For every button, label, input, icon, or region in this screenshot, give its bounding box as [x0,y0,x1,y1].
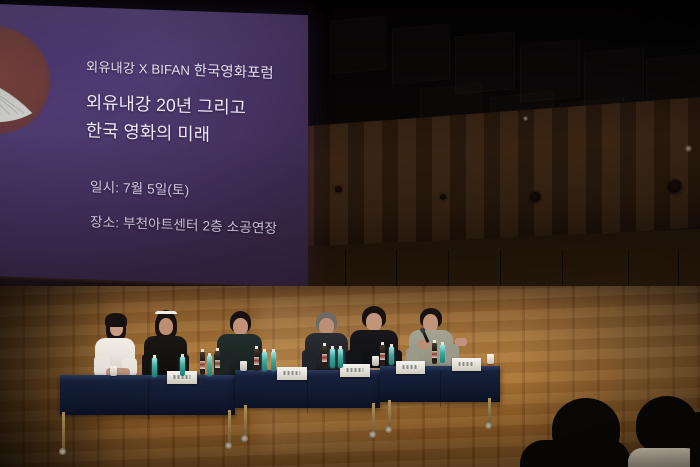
wall-light-glow [523,116,528,121]
table-leg [244,405,247,437]
screen-text-block: 외유내강 X BIFAN 한국영화포럼 외유내강 20년 그리고 한국 영화의 … [0,4,308,287]
water-bottle [389,347,394,365]
table-caster [485,422,492,429]
moth-wing-graphic [0,54,70,150]
acoustic-panel [330,16,386,75]
paper-cup [372,356,379,366]
water-bottle [207,356,212,376]
screen-venue: 장소: 부천아트센터 2층 소공연장 [90,210,277,237]
water-bottle [180,357,185,376]
water-bottle [330,349,335,368]
projection-screen: 외유내강 X BIFAN 한국영화포럼 외유내강 20년 그리고 한국 영화의 … [0,4,308,287]
name-card [340,364,370,377]
table-leg [228,410,231,444]
name-card [452,358,481,371]
water-bottle [271,352,276,371]
downlight-icon [440,194,446,200]
downlight-icon [668,180,682,194]
name-card [277,367,307,380]
table-leg [372,403,375,433]
downlight-icon [335,186,342,193]
name-card [396,361,425,374]
water-bottle [338,349,343,368]
screen-date: 일시: 7월 5일(토) [90,175,189,199]
labeled-bottle [322,346,327,368]
labeled-bottle [432,343,437,364]
paper-cup [110,366,117,376]
water-bottle [262,352,267,371]
labeled-bottle [380,345,385,366]
audience-head-right [636,396,698,454]
labeled-bottle [215,351,220,375]
wall-light-glow [685,145,692,152]
paper-cup [240,361,247,371]
water-bottle [440,345,445,363]
table-caster [369,431,376,438]
screen-kicker: 외유내강 X BIFAN 한국영화포럼 [86,55,274,83]
table-caster [385,426,392,433]
panel-table-left [60,375,235,415]
downlight-icon [530,192,541,203]
labeled-bottle [254,349,259,371]
screen-headline-line1: 외유내강 20년 그리고 [86,89,246,120]
audience-head-far-right [690,412,700,467]
labeled-bottle [200,352,205,375]
table-leg [62,412,65,450]
water-bottle [152,358,157,377]
table-caster [59,448,66,455]
photo-stage-scene: 외유내강 X BIFAN 한국영화포럼 외유내강 20년 그리고 한국 영화의 … [0,0,700,467]
acoustic-panel [392,23,450,84]
screen-headline-line2: 한국 영화의 미래 [86,117,210,146]
table-leg [388,400,391,428]
paper-cup [487,354,494,364]
table-leg [488,398,491,424]
red-moon-graphic [0,24,50,136]
audience-shoulders-left [520,440,630,467]
table-caster [225,442,232,449]
table-caster [241,435,248,442]
